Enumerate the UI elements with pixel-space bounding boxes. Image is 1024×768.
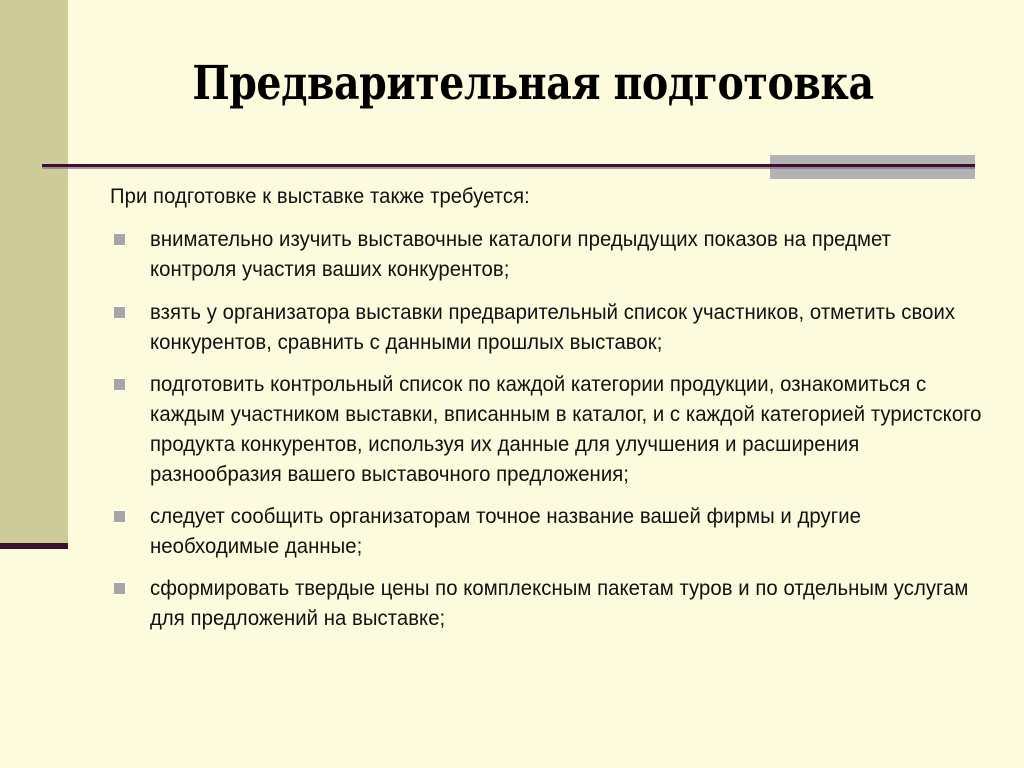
- list-item-text: взять у организатора выставки предварите…: [150, 297, 982, 357]
- list-item: следует сообщить организаторам точное на…: [110, 501, 982, 561]
- slide-title-block: Предварительная подготовка: [68, 58, 998, 110]
- presentation-slide: Предварительная подготовка При подготовк…: [0, 0, 1024, 768]
- list-item-text: сформировать твердые цены по комплексным…: [150, 573, 982, 633]
- square-bullet-icon: [114, 234, 125, 245]
- list-item-text: внимательно изучить выставочные каталоги…: [150, 224, 982, 284]
- list-item: подготовить контрольный список по каждой…: [110, 369, 982, 489]
- title-divider-group: [0, 140, 1024, 185]
- left-band-underline: [0, 543, 68, 549]
- square-bullet-icon: [114, 379, 125, 390]
- list-item-text: подготовить контрольный список по каждой…: [150, 369, 982, 489]
- bullet-list: внимательно изучить выставочные каталоги…: [110, 224, 982, 633]
- intro-paragraph: При подготовке к выставке также требуетс…: [110, 182, 930, 210]
- square-bullet-icon: [114, 511, 125, 522]
- slide-body: При подготовке к выставке также требуетс…: [110, 182, 982, 634]
- square-bullet-icon: [114, 307, 125, 318]
- list-item: внимательно изучить выставочные каталоги…: [110, 224, 982, 284]
- square-bullet-icon: [114, 583, 125, 594]
- list-item-text: следует сообщить организаторам точное на…: [150, 501, 982, 561]
- left-decorative-band: [0, 0, 68, 543]
- list-item: взять у организатора выставки предварите…: [110, 297, 982, 357]
- list-item: сформировать твердые цены по комплексным…: [110, 573, 982, 633]
- title-divider-line-secondary: [42, 167, 975, 169]
- page-title: Предварительная подготовка: [142, 58, 923, 110]
